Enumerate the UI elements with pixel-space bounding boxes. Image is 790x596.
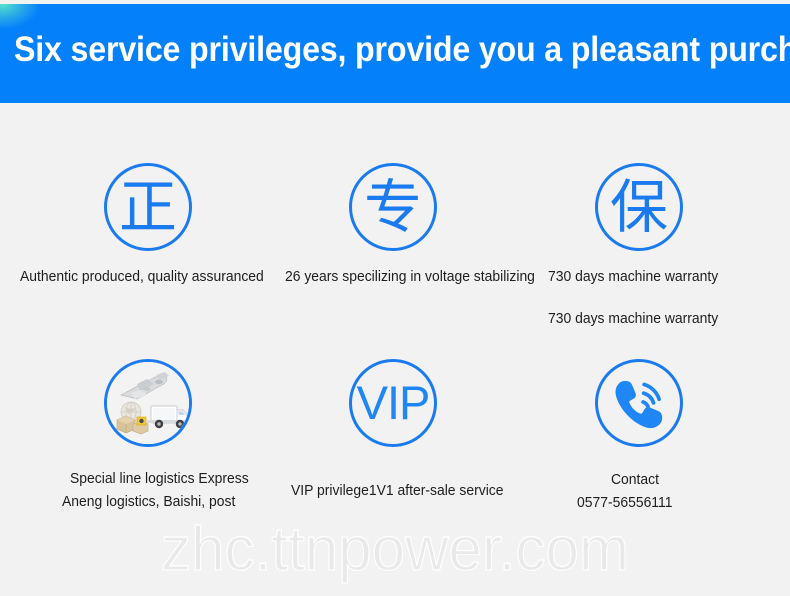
feature-caption-vip: VIP privilege1V1 after-sale service (291, 482, 504, 501)
feature-icon-vip: VIP (349, 359, 437, 447)
phone-call-icon (606, 370, 672, 436)
feature-caption-logistics-line2: Aneng logistics, Baishi, post (62, 493, 235, 512)
feature-icon-logistics (104, 359, 192, 447)
feature-icon-specialized: 专 (349, 163, 437, 251)
feature-icon-warranty: 保 (595, 163, 683, 251)
bao-character-icon: 保 (610, 178, 668, 236)
logistics-illustration (107, 362, 189, 444)
feature-caption-authentic: Authentic produced, quality assuranced (20, 268, 264, 287)
feature-caption-specialized: 26 years specilizing in voltage stabiliz… (285, 268, 535, 287)
site-watermark: zhc.ttnpower.com (12, 516, 778, 584)
zheng-character-icon: 正 (119, 178, 177, 236)
feature-caption-warranty-duplicate: 730 days machine warranty (548, 310, 718, 329)
header-banner: Six service privileges, provide you a pl… (0, 4, 790, 103)
feature-icon-authentic: 正 (104, 163, 192, 251)
vip-badge-icon: VIP (357, 379, 430, 426)
zhuan-character-icon: 专 (364, 178, 422, 236)
feature-caption-contact-phone: 0577-56556111 (577, 494, 672, 513)
feature-caption-logistics-line1: Special line logistics Express (70, 470, 249, 489)
page-title: Six service privileges, provide you a pl… (14, 30, 715, 70)
logistics-plane-truck-icon (107, 362, 189, 444)
feature-icon-contact (595, 359, 683, 447)
feature-caption-contact-label: Contact (611, 471, 659, 490)
feature-caption-warranty: 730 days machine warranty (548, 268, 718, 287)
promo-banner-page: Six service privileges, provide you a pl… (0, 0, 790, 596)
